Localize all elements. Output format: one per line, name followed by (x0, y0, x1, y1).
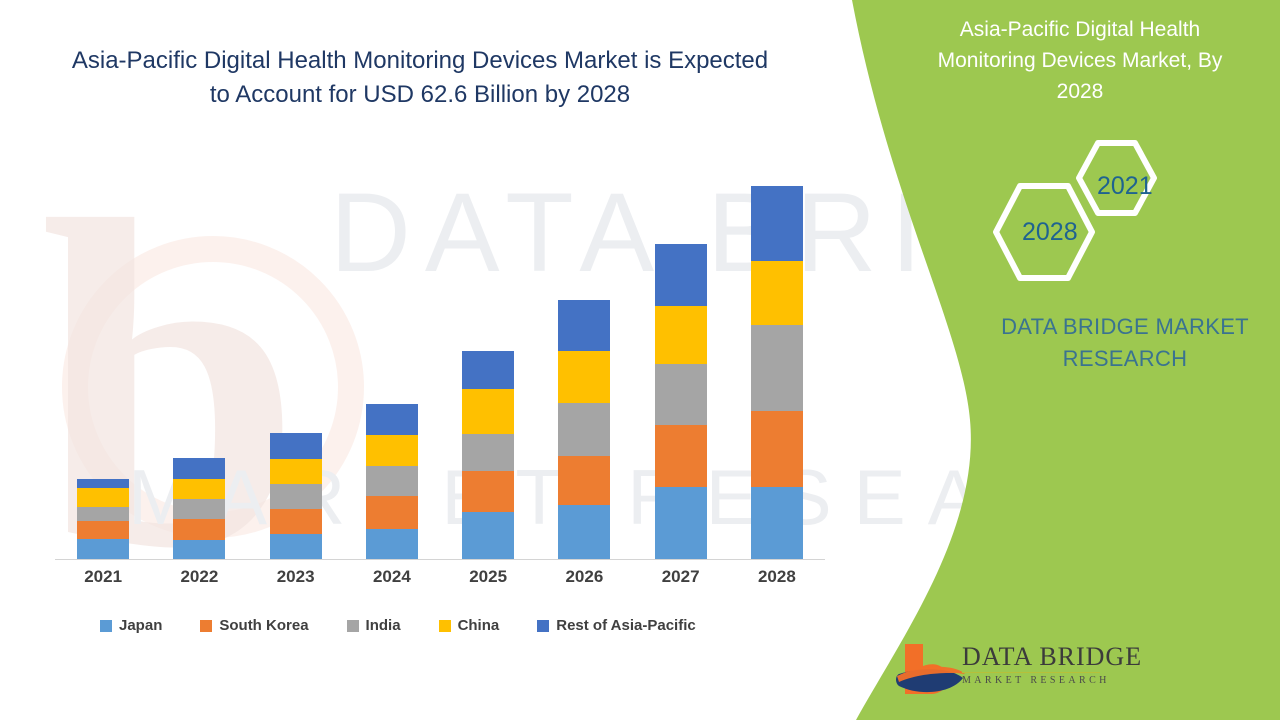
bar-segment[interactable] (77, 488, 129, 507)
x-axis-label-2022: 2022 (173, 567, 225, 587)
bar-segment[interactable] (462, 512, 514, 559)
legend-item-japan[interactable]: Japan (100, 617, 162, 634)
bar-segment[interactable] (270, 509, 322, 534)
bar-segment[interactable] (366, 466, 418, 496)
infographic-canvas: b DATA BRIDGE MARKET RESEARCH Asia-Pacif… (0, 0, 1280, 720)
bar-segment[interactable] (270, 433, 322, 459)
legend-swatch-icon (537, 620, 549, 632)
logo-title: DATA BRIDGE (962, 643, 1142, 671)
bar-segment[interactable] (77, 479, 129, 488)
legend-swatch-icon (439, 620, 451, 632)
bar-segment[interactable] (173, 499, 225, 519)
legend-swatch-icon (347, 620, 359, 632)
bar-segment[interactable] (270, 459, 322, 484)
x-axis-label-2025: 2025 (462, 567, 514, 587)
legend-label: South Korea (219, 617, 308, 634)
bar-segment[interactable] (77, 521, 129, 538)
logo-subtitle: MARKET RESEARCH (962, 675, 1142, 687)
panel-title: Asia-Pacific Digital Health Monitoring D… (915, 14, 1245, 107)
bar-segment[interactable] (558, 505, 610, 559)
bar-segment[interactable] (270, 484, 322, 509)
bar-segment[interactable] (558, 403, 610, 456)
legend-swatch-icon (100, 620, 112, 632)
legend-item-china[interactable]: China (439, 617, 500, 634)
bar-group (55, 150, 825, 559)
bar-segment[interactable] (655, 487, 707, 559)
bar-2021[interactable] (77, 479, 129, 559)
x-axis-label-2027: 2027 (655, 567, 707, 587)
hexagon-end-year-label: 2028 (1022, 218, 1078, 247)
x-axis-labels: 20212022202320242025202620272028 (55, 567, 825, 587)
bar-2022[interactable] (173, 458, 225, 559)
x-axis-label-2021: 2021 (77, 567, 129, 587)
bar-segment[interactable] (462, 351, 514, 389)
x-axis-label-2023: 2023 (270, 567, 322, 587)
bar-2026[interactable] (558, 300, 610, 559)
hexagon-start-year-label: 2021 (1097, 172, 1153, 201)
logo-divider (962, 672, 1100, 673)
chart-title: Asia-Pacific Digital Health Monitoring D… (70, 44, 770, 112)
bar-segment[interactable] (751, 186, 803, 261)
bar-segment[interactable] (366, 404, 418, 435)
bar-segment[interactable] (751, 325, 803, 410)
bar-segment[interactable] (366, 529, 418, 559)
bar-segment[interactable] (558, 300, 610, 351)
bar-2023[interactable] (270, 433, 322, 559)
bar-2027[interactable] (655, 244, 707, 559)
legend-label: China (458, 617, 500, 634)
bar-segment[interactable] (173, 458, 225, 479)
bar-segment[interactable] (751, 487, 803, 559)
bar-segment[interactable] (558, 456, 610, 505)
chart-plot-area (55, 150, 825, 560)
legend-item-rest-of-asia-pacific[interactable]: Rest of Asia-Pacific (537, 617, 696, 634)
bar-2024[interactable] (366, 404, 418, 559)
x-axis-label-2026: 2026 (558, 567, 610, 587)
bar-segment[interactable] (366, 496, 418, 528)
bar-segment[interactable] (462, 389, 514, 434)
bar-segment[interactable] (77, 507, 129, 522)
panel-brand-text: DATA BRIDGE MARKET RESEARCH (980, 311, 1270, 375)
x-axis-label-2028: 2028 (751, 567, 803, 587)
bar-2028[interactable] (751, 186, 803, 559)
bar-segment[interactable] (173, 479, 225, 499)
bar-segment[interactable] (270, 534, 322, 559)
data-bridge-logo-text: DATA BRIDGE MARKET RESEARCH (962, 643, 1142, 687)
chart-legend: JapanSouth KoreaIndiaChinaRest of Asia-P… (100, 617, 800, 634)
bar-segment[interactable] (655, 425, 707, 487)
bar-segment[interactable] (751, 261, 803, 325)
bar-segment[interactable] (655, 306, 707, 363)
x-axis-label-2024: 2024 (366, 567, 418, 587)
x-axis-line (55, 559, 825, 560)
bar-segment[interactable] (462, 471, 514, 512)
bar-segment[interactable] (462, 434, 514, 470)
bar-segment[interactable] (751, 411, 803, 487)
legend-label: India (366, 617, 401, 634)
legend-item-india[interactable]: India (347, 617, 401, 634)
bar-segment[interactable] (366, 435, 418, 466)
bar-segment[interactable] (77, 539, 129, 559)
bar-segment[interactable] (655, 244, 707, 306)
bar-segment[interactable] (173, 519, 225, 540)
bar-2025[interactable] (462, 351, 514, 559)
bar-segment[interactable] (558, 351, 610, 403)
bar-segment[interactable] (173, 540, 225, 559)
bar-segment[interactable] (655, 364, 707, 425)
legend-label: Japan (119, 617, 162, 634)
legend-label: Rest of Asia-Pacific (556, 617, 696, 634)
legend-item-south-korea[interactable]: South Korea (200, 617, 308, 634)
legend-swatch-icon (200, 620, 212, 632)
